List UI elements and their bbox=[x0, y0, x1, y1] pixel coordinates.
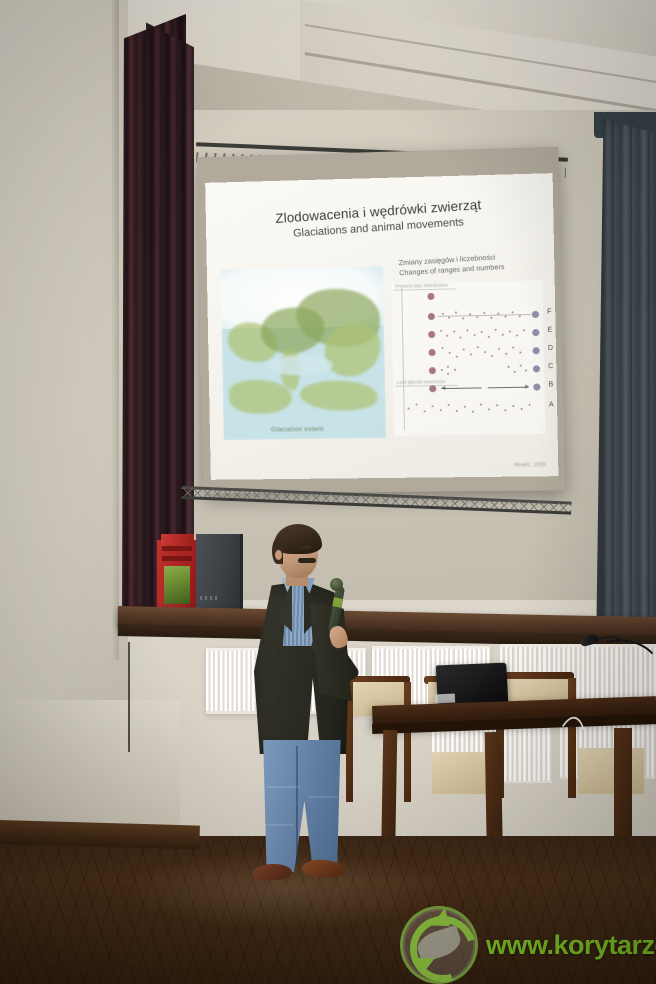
wall-cable bbox=[128, 642, 146, 752]
end-dot bbox=[532, 311, 539, 318]
stage-curtain-right bbox=[596, 118, 656, 658]
reference-dot bbox=[428, 331, 435, 338]
diagram-row-label: C bbox=[548, 363, 553, 370]
presentation-photo: Zlodowacenia i wędrówki zwierząt Glaciat… bbox=[0, 0, 656, 984]
diagram-row-d: D bbox=[428, 343, 546, 361]
jeans-seam bbox=[296, 746, 298, 864]
arrow-right-icon bbox=[488, 387, 529, 389]
end-dot bbox=[533, 365, 540, 372]
diagram-caption: Zmiany zasięgów i liczebności Changes of… bbox=[398, 249, 544, 277]
end-dot bbox=[533, 347, 540, 354]
diagram-row-label: D bbox=[548, 345, 553, 352]
projection-screen: Zlodowacenia i wędrówki zwierząt Glaciat… bbox=[205, 173, 558, 480]
jeans-fold-2 bbox=[308, 796, 338, 798]
slide-content: Zlodowacenia i wędrówki zwierząt Glaciat… bbox=[205, 173, 558, 480]
jeans-fold-1 bbox=[266, 786, 300, 788]
chair-post-left-2 bbox=[404, 682, 411, 802]
map-caption: Glaciation extent bbox=[271, 426, 324, 434]
diagram-row-label: E bbox=[547, 327, 552, 334]
diagram-row-label: A bbox=[549, 401, 554, 408]
arrow-left-icon bbox=[441, 387, 481, 389]
presenter-jeans bbox=[258, 740, 344, 872]
reference-dot bbox=[427, 293, 434, 300]
reference-dot bbox=[428, 313, 435, 320]
crate-contents bbox=[164, 566, 190, 604]
map-land-north-africa bbox=[229, 379, 293, 414]
laptop-label bbox=[435, 693, 455, 703]
reference-dot bbox=[429, 367, 436, 374]
presenter-shoe-right bbox=[302, 859, 347, 878]
diagram-row-e: E bbox=[428, 325, 546, 343]
reference-dot bbox=[429, 385, 436, 392]
jeans-fold-3 bbox=[264, 824, 294, 826]
diagram-row-c: C bbox=[429, 361, 547, 379]
diagram-row-label: B bbox=[548, 381, 553, 388]
presenter bbox=[236, 524, 368, 896]
presenter-ear bbox=[275, 550, 282, 560]
diagram-row-label: F bbox=[547, 309, 551, 316]
microphone-band bbox=[332, 597, 342, 607]
reference-dot bbox=[428, 349, 435, 356]
lower-left-wall bbox=[0, 700, 180, 828]
speaker-grill bbox=[200, 596, 220, 600]
diagram-row-ref bbox=[427, 286, 545, 305]
changes-diagram: Zmiany zasięgów i liczebności Changes of… bbox=[391, 252, 548, 446]
end-dot bbox=[533, 383, 540, 390]
presenter-shoe-left bbox=[251, 863, 292, 882]
left-wall-edge bbox=[112, 0, 119, 660]
europe-map: Glaciation extent bbox=[221, 266, 387, 440]
slide-credit: Hewitt, 1999 bbox=[514, 462, 546, 468]
end-dot bbox=[532, 329, 539, 336]
red-crate-top bbox=[161, 534, 194, 546]
diagram-row-f: F bbox=[428, 307, 546, 325]
presenter-moustache bbox=[298, 558, 316, 563]
diagram-row-a: A bbox=[429, 400, 547, 418]
diagram-row-b: B bbox=[429, 379, 547, 397]
